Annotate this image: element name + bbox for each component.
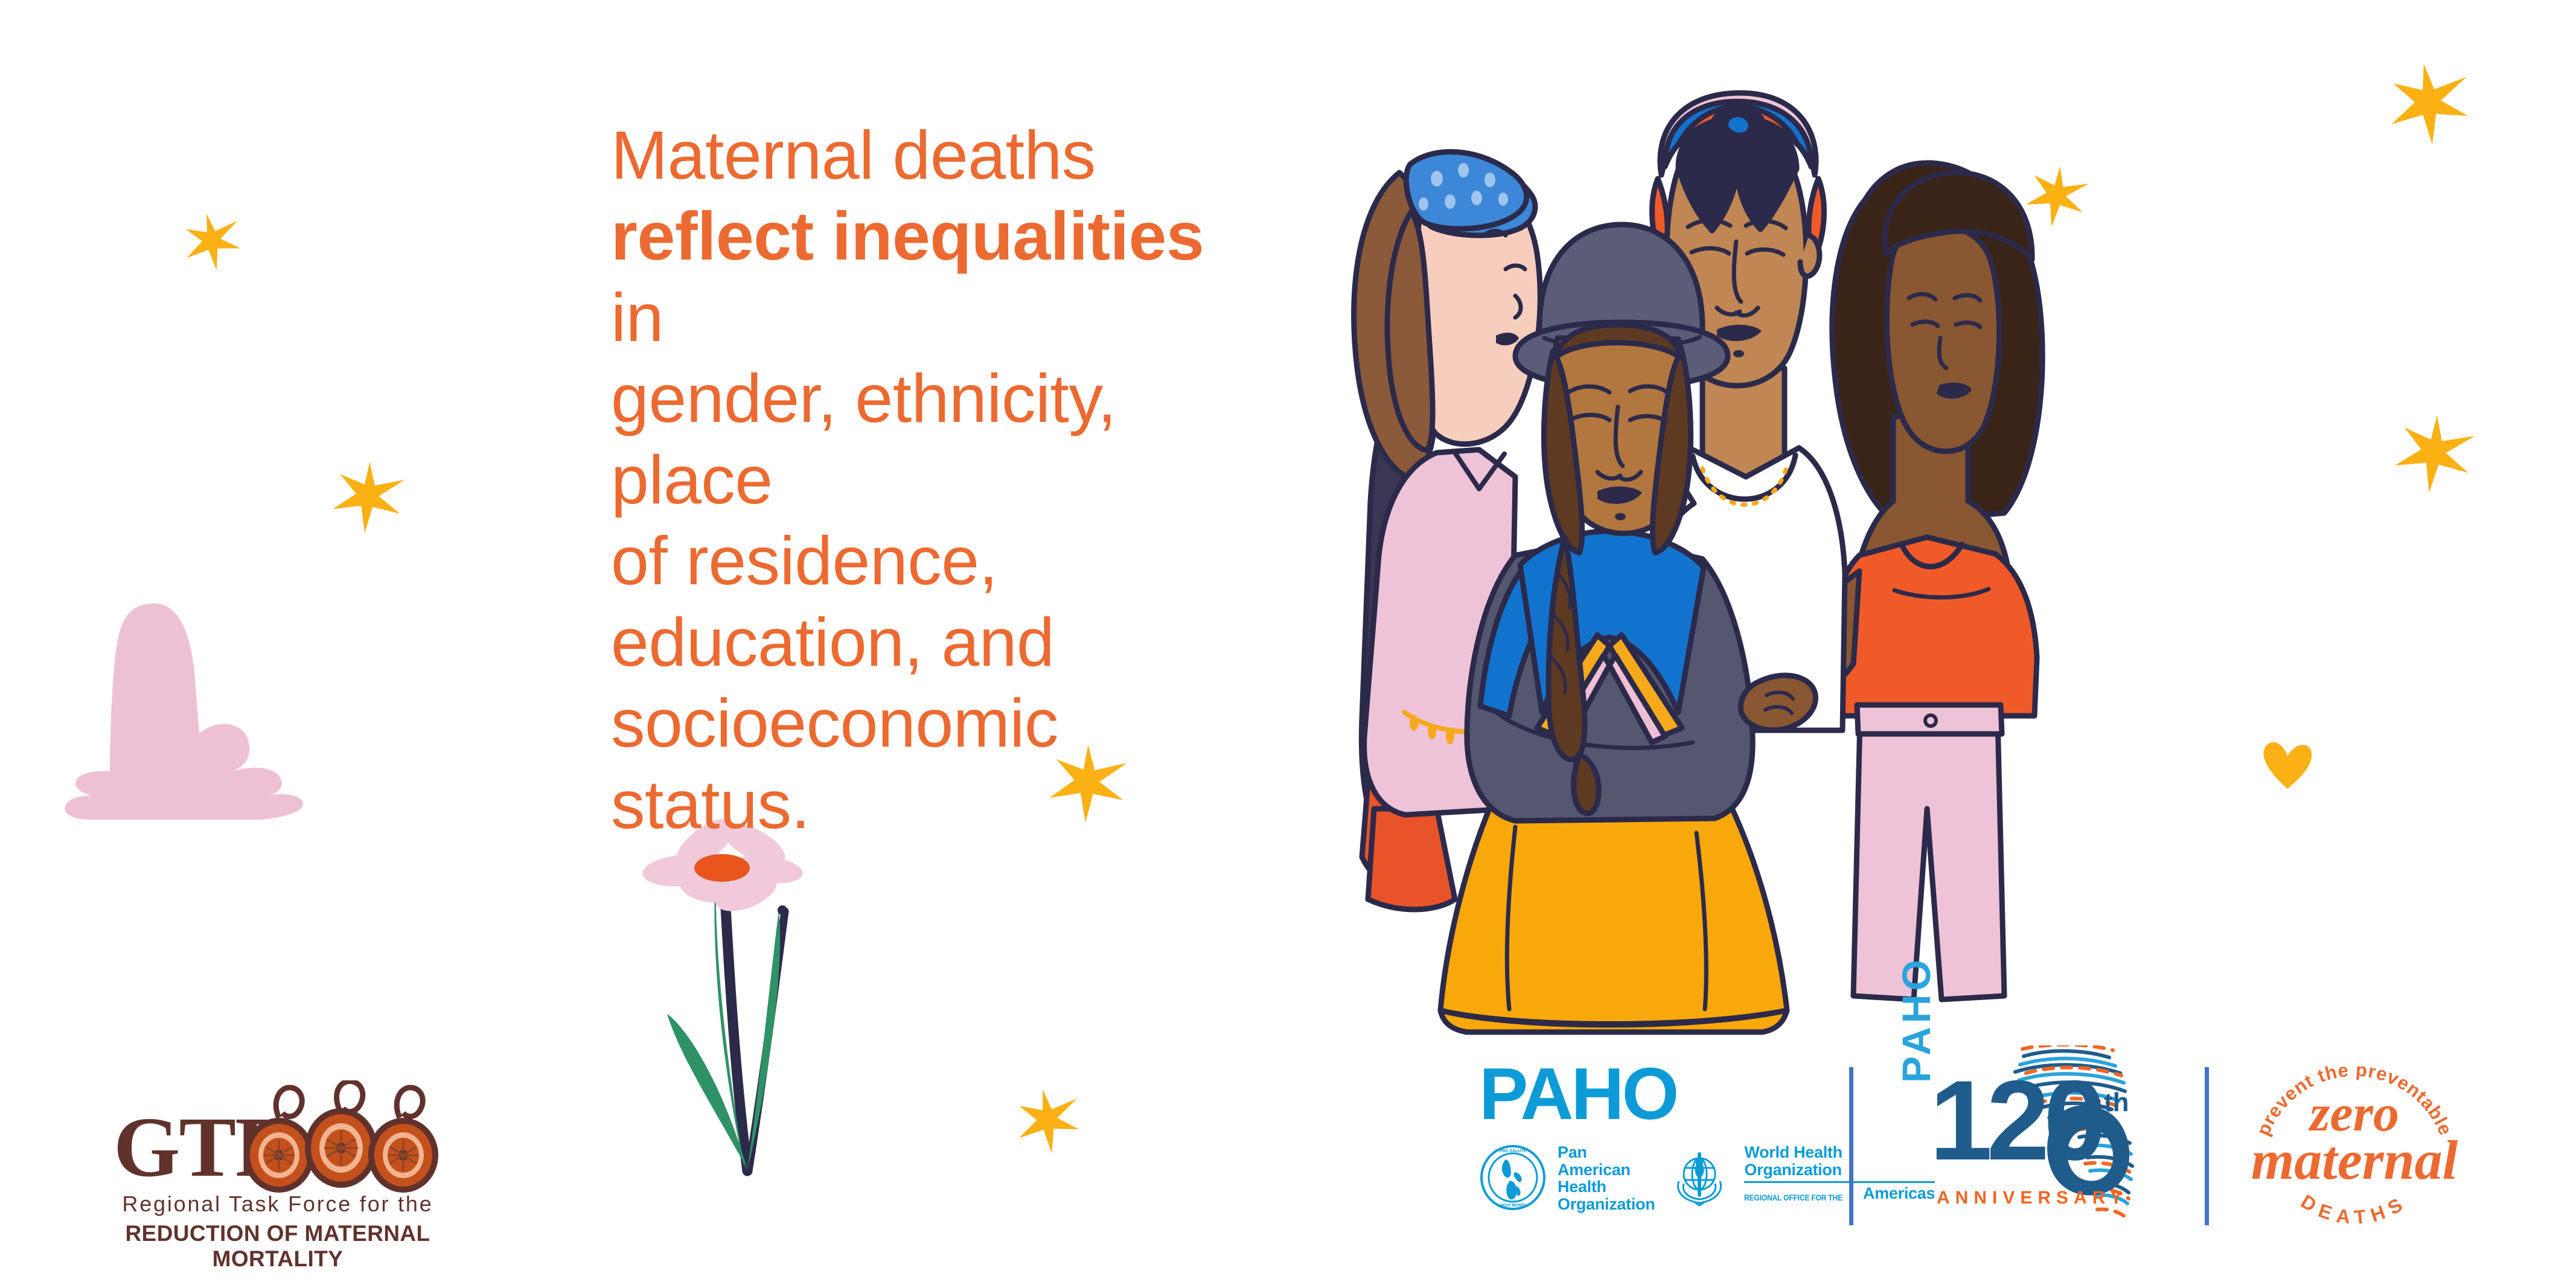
pan-american-health-organization-text: Pan American Health Organization (1558, 1144, 1655, 1213)
paho-120th-anniversary-logo: PAHO 120 th ANNIVERSARY (1890, 1062, 2149, 1225)
headline-line-4: of residence, (611, 523, 998, 599)
svg-text:DEATHS: DEATHS (2297, 1190, 2412, 1228)
star-icon-6 (2388, 61, 2472, 147)
headline-line-1: Maternal deaths (611, 117, 1096, 193)
badge-script-maternal: maternal (2251, 1129, 2458, 1191)
pink-bush-decoration (65, 604, 303, 820)
gtr-tagline-line-2: REDUCTION OF MATERNAL MORTALITY (91, 1221, 465, 1272)
anniversary-ordinal: th (2104, 1088, 2129, 1118)
headline-emphasis: reflect inequalities (611, 198, 1204, 274)
headline-line-6: socioeconomic status. (611, 685, 1058, 842)
pink-flower-decoration (641, 810, 805, 1171)
paho-emblem-icon: PRO SALUTE NOVI MUNDI (1479, 1144, 1547, 1211)
paho-wordmark: PAHO (1479, 1059, 1817, 1129)
svg-text:PRO SALUTE: PRO SALUTE (1499, 1149, 1526, 1153)
star-icon-4 (1014, 1086, 1082, 1156)
gtr-motif-icon (241, 1080, 441, 1195)
paho-name-line-1: Pan American (1558, 1144, 1655, 1178)
paho-name-line-2: Health (1558, 1178, 1655, 1196)
who-emblem-icon (1666, 1144, 1733, 1211)
star-icon-7 (2392, 410, 2477, 498)
anniversary-number: 120 (1929, 1063, 2101, 1177)
logo-divider-left (1849, 1067, 1853, 1225)
heart-icon (2264, 742, 2312, 789)
badge-arc-bottom-text: DEATHS (2297, 1190, 2412, 1228)
headline-line-3: gender, ethnicity, place (611, 360, 1116, 517)
star-icon-1 (181, 209, 244, 274)
zero-maternal-deaths-badge: prevent the preventable zero maternal DE… (2234, 1053, 2475, 1234)
page-headline: Maternal deaths reflect inequalities in … (611, 115, 1257, 845)
headline-after-emphasis: in (611, 279, 663, 355)
svg-text:NOVI MUNDI: NOVI MUNDI (1500, 1204, 1526, 1208)
who-regional-prefix: REGIONAL OFFICE FOR THE (1744, 1193, 1843, 1202)
poster-canvas: Maternal deaths reflect inequalities in … (0, 0, 2576, 1288)
gtr-logo: GTR (91, 1080, 465, 1272)
paho-name-line-3: Organization (1558, 1196, 1655, 1213)
paho-logo: PAHO PRO SALUTE NOVI MUNDI Pan American (1479, 1059, 1817, 1213)
headline-line-5: education, and (611, 604, 1054, 680)
logo-divider-right (2205, 1067, 2209, 1225)
four-women-illustration (1256, 54, 2101, 1038)
anniversary-word: ANNIVERSARY (1937, 1188, 2127, 1208)
star-icon-2 (331, 459, 406, 537)
